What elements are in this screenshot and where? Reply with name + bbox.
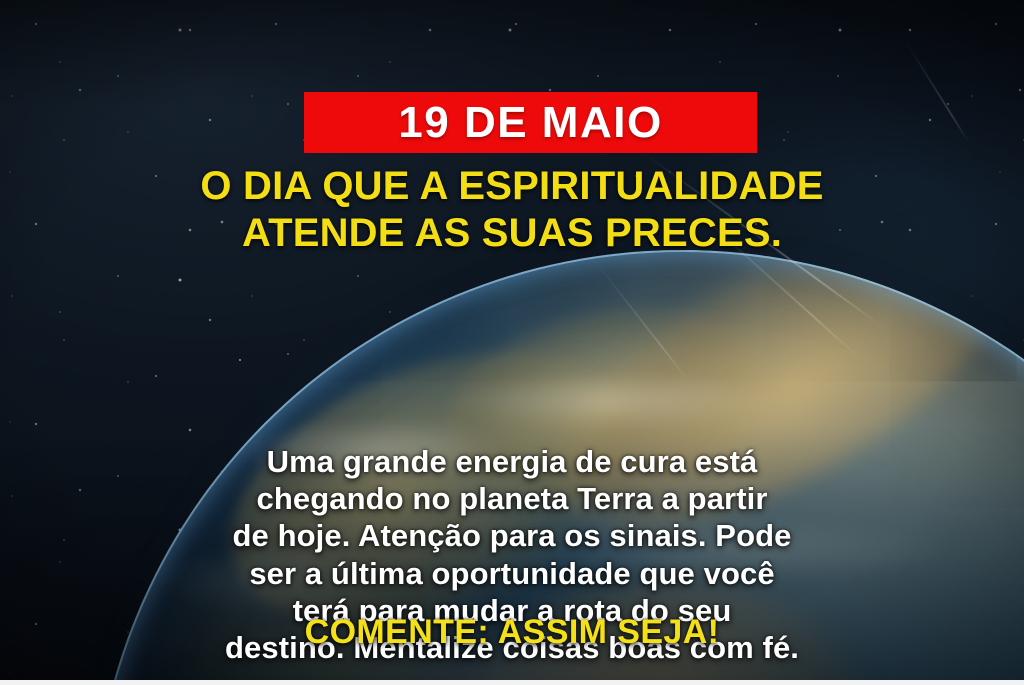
date-badge-label: 19 DE MAIO (398, 101, 662, 145)
call-to-action-text: COMENTE: ASSIM SEJA! (0, 615, 1024, 649)
date-badge: 19 DE MAIO (304, 92, 757, 153)
body-line-2: chegando no planeta Terra a partir (0, 480, 1024, 517)
body-line-4: ser a última oportunidade que você (0, 555, 1024, 592)
headline: O DIA QUE A ESPIRITUALIDADE ATENDE AS SU… (0, 163, 1024, 257)
poster-content: 19 DE MAIO O DIA QUE A ESPIRITUALIDADE A… (0, 0, 1024, 685)
body-line-1: Uma grande energia de cura está (0, 443, 1024, 480)
headline-line-2: ATENDE AS SUAS PRECES. (0, 210, 1024, 257)
headline-line-1: O DIA QUE A ESPIRITUALIDADE (0, 163, 1024, 210)
poster-canvas: 19 DE MAIO O DIA QUE A ESPIRITUALIDADE A… (0, 0, 1024, 685)
body-line-3: de hoje. Atenção para os sinais. Pode (0, 517, 1024, 554)
bottom-strip (0, 680, 1024, 685)
